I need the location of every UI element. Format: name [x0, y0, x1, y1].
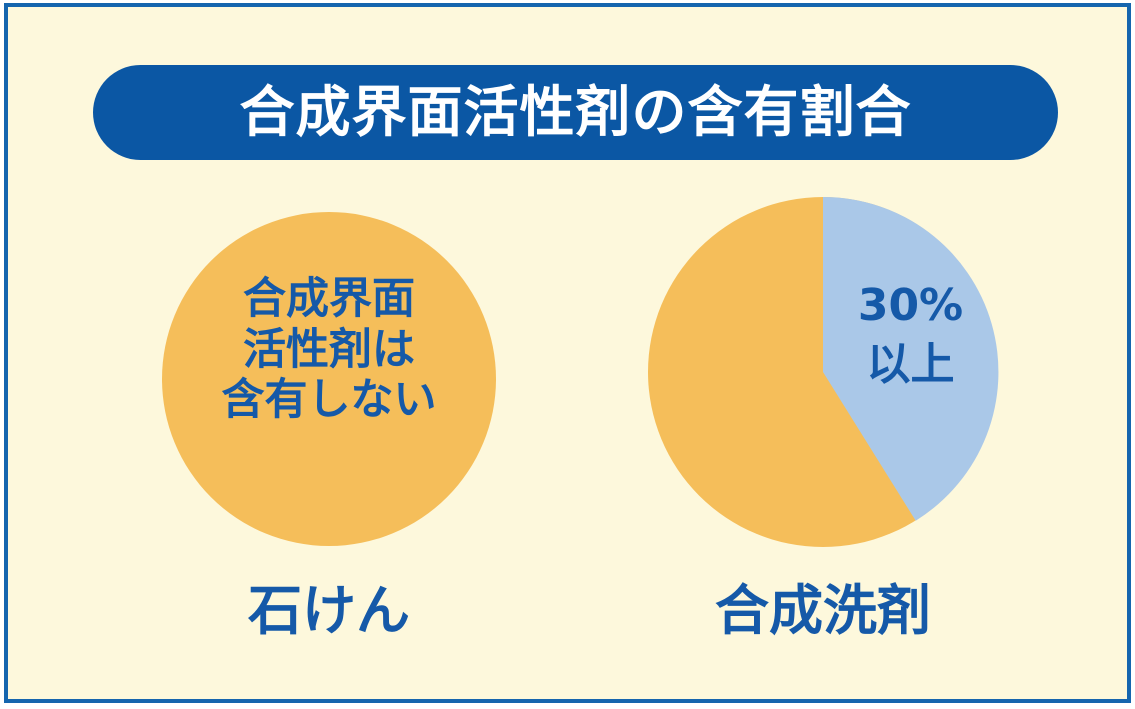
chart-caption-soap: 石けん [149, 584, 509, 638]
content-frame: 合成界面活性剤の含有割合 合成界面 活性剤は 含有しない 石けん [4, 3, 1131, 703]
page-title: 合成界面活性剤の含有割合 [239, 85, 911, 140]
pie-holder-soap: 合成界面 活性剤は 含有しない [149, 202, 509, 557]
title-banner: 合成界面活性剤の含有割合 [93, 65, 1058, 160]
pie-slice-soap-full [162, 212, 496, 546]
pie-chart-detergent [643, 192, 1003, 547]
chart-detergent: 30% 以上 合成洗剤 [643, 192, 1003, 672]
chart-soap: 合成界面 活性剤は 含有しない 石けん [149, 202, 509, 672]
pie-holder-detergent: 30% 以上 [643, 192, 1003, 547]
chart-caption-detergent: 合成洗剤 [643, 584, 1003, 638]
pie-chart-soap [149, 202, 509, 557]
infographic-canvas: 合成界面活性剤の含有割合 合成界面 活性剤は 含有しない 石けん [0, 0, 1135, 709]
